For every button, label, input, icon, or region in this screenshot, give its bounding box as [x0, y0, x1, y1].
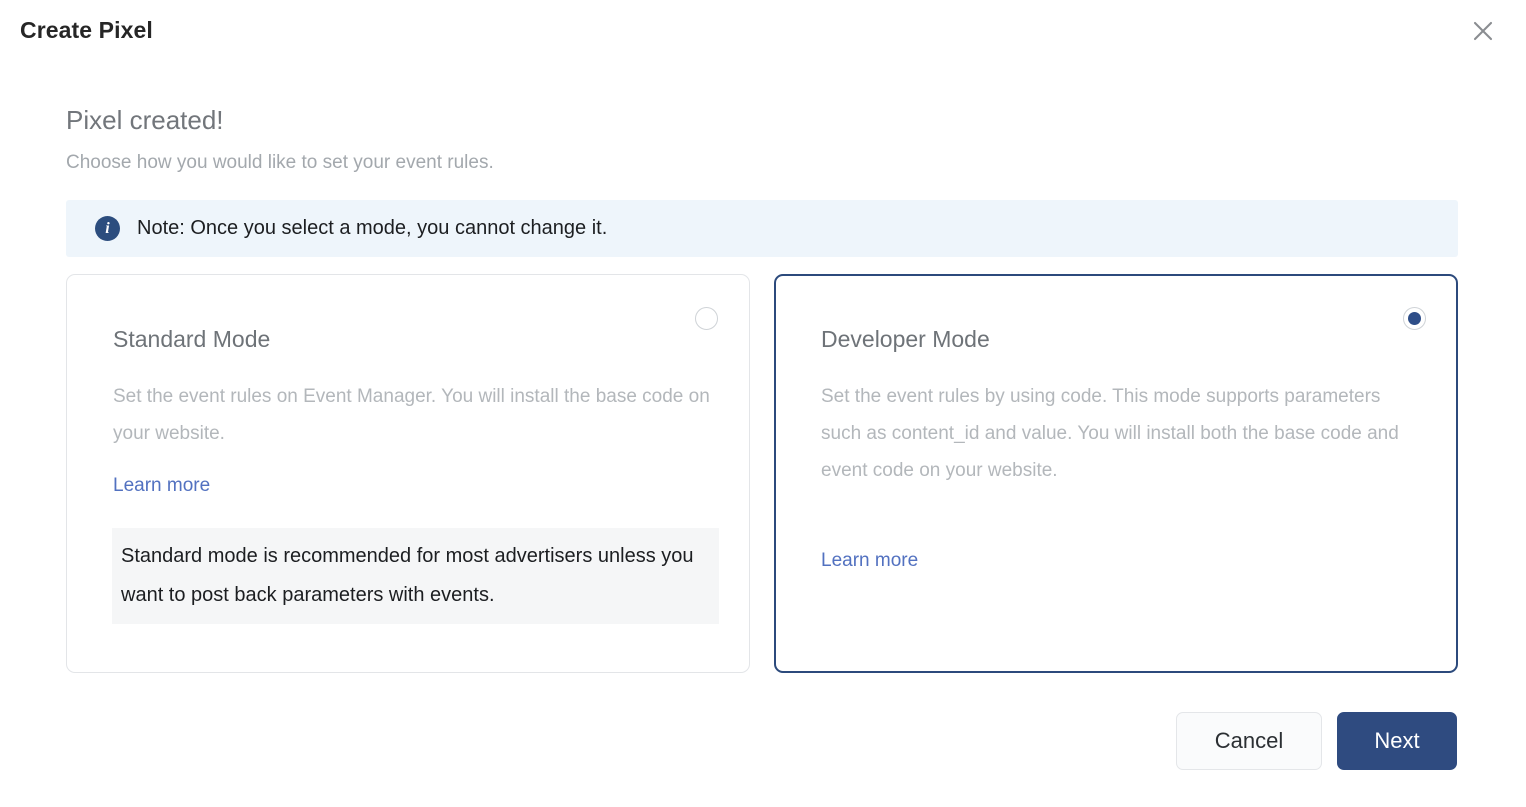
next-button[interactable]: Next [1337, 712, 1457, 770]
page-title: Create Pixel [20, 17, 153, 44]
radio-developer-mode[interactable] [1403, 307, 1426, 330]
close-button[interactable] [1466, 14, 1500, 48]
radio-standard-mode[interactable] [695, 307, 718, 330]
notice-text: Note: Once you select a mode, you cannot… [137, 217, 607, 240]
cancel-button[interactable]: Cancel [1176, 712, 1322, 770]
section-subheading: Choose how you would like to set your ev… [66, 152, 494, 174]
mode-card-title-developer: Developer Mode [821, 326, 990, 353]
modal-footer: Cancel Next [0, 712, 1526, 772]
info-icon: i [95, 216, 120, 241]
notice-banner: i Note: Once you select a mode, you cann… [66, 200, 1458, 257]
recommendation-box-standard: Standard mode is recommended for most ad… [112, 528, 719, 624]
modal-header: Create Pixel [0, 0, 1526, 62]
mode-card-title-standard: Standard Mode [113, 326, 270, 353]
learn-more-link-developer[interactable]: Learn more [821, 550, 918, 572]
recommendation-text-standard: Standard mode is recommended for most ad… [112, 537, 719, 615]
mode-card-description-developer: Set the event rules by using code. This … [821, 378, 1421, 489]
close-icon [1472, 20, 1494, 42]
mode-cards: Standard Mode Set the event rules on Eve… [66, 274, 1458, 674]
radio-dot-icon [1408, 312, 1421, 325]
mode-card-standard[interactable]: Standard Mode Set the event rules on Eve… [66, 274, 750, 673]
learn-more-link-standard[interactable]: Learn more [113, 475, 210, 497]
section-heading: Pixel created! [66, 105, 224, 136]
mode-card-description-standard: Set the event rules on Event Manager. Yo… [113, 378, 723, 452]
mode-card-developer[interactable]: Developer Mode Set the event rules by us… [774, 274, 1458, 673]
